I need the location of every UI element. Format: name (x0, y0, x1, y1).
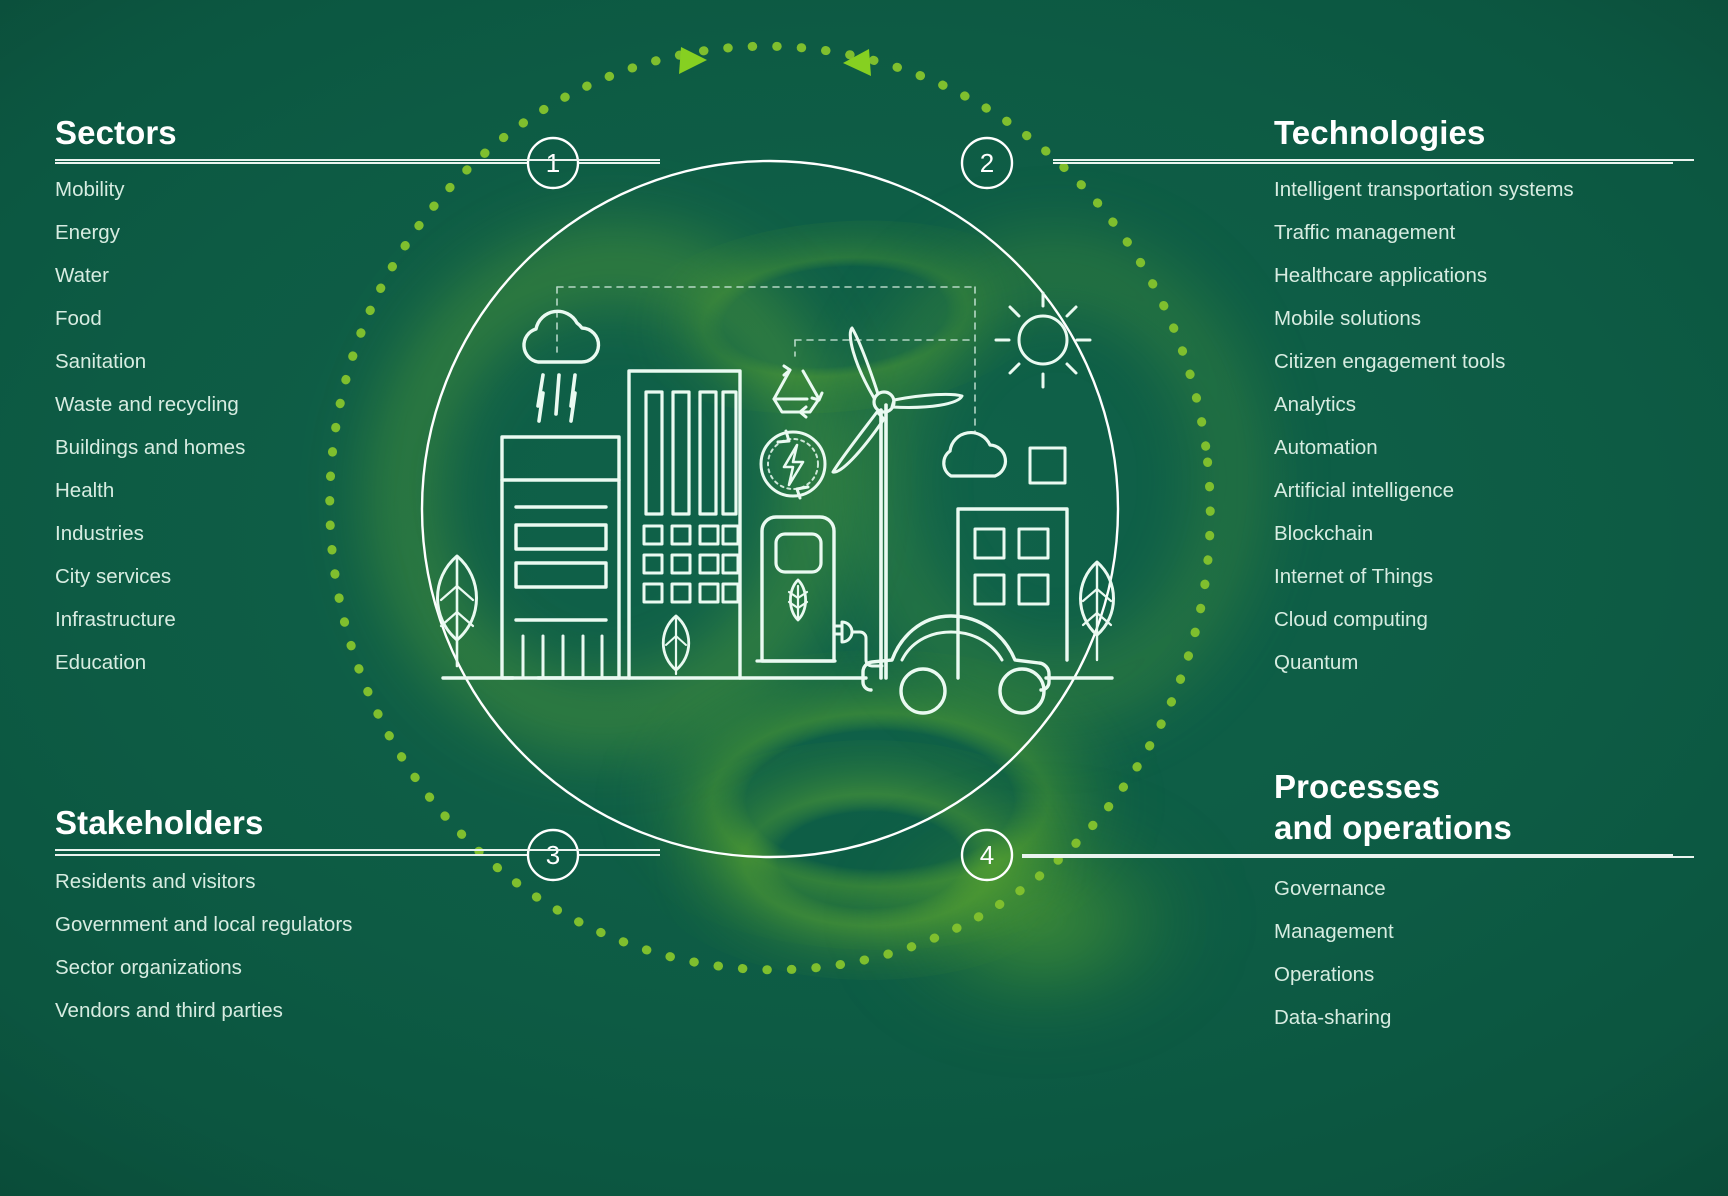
panel-stakeholders: Stakeholders Residents and visitors Gove… (55, 802, 1055, 1024)
list-item[interactable]: Education (55, 650, 1055, 676)
panel-technologies: Technologies Intelligent transportation … (1274, 112, 1694, 676)
list-item[interactable]: Government and local regulators (55, 912, 1055, 938)
list-item[interactable]: Blockchain (1274, 521, 1694, 547)
list-item[interactable]: Industries (55, 521, 1055, 547)
list-stakeholders: Residents and visitors Government and lo… (55, 869, 1055, 1024)
list-item[interactable]: Traffic management (1274, 220, 1694, 246)
list-item[interactable]: Internet of Things (1274, 564, 1694, 590)
list-item[interactable]: Buildings and homes (55, 435, 1055, 461)
list-item[interactable]: Infrastructure (55, 607, 1055, 633)
panel-title-sectors: Sectors (55, 112, 1055, 153)
panel-rule-processes (1022, 856, 1694, 858)
list-item[interactable]: City services (55, 564, 1055, 590)
list-item[interactable]: Data-sharing (1274, 1005, 1694, 1031)
panel-rule-sectors (55, 159, 660, 161)
list-item[interactable]: Artificial intelligence (1274, 478, 1694, 504)
panel-sectors: Sectors Mobility Energy Water Food Sanit… (55, 112, 1055, 676)
list-item[interactable]: Automation (1274, 435, 1694, 461)
list-item[interactable]: Management (1274, 919, 1694, 945)
list-item[interactable]: Waste and recycling (55, 392, 1055, 418)
list-item[interactable]: Intelligent transportation systems (1274, 177, 1694, 203)
list-item[interactable]: Food (55, 306, 1055, 332)
panel-rule-technologies (1053, 159, 1694, 161)
leaf-icon-right (1081, 562, 1114, 660)
panel-title-technologies: Technologies (1274, 112, 1694, 153)
list-item[interactable]: Sanitation (55, 349, 1055, 375)
list-item[interactable]: Mobility (55, 177, 1055, 203)
panel-title-stakeholders: Stakeholders (55, 802, 1055, 843)
list-processes: Governance Management Operations Data-sh… (1274, 876, 1694, 1031)
list-item[interactable]: Mobile solutions (1274, 306, 1694, 332)
list-item[interactable]: Healthcare applications (1274, 263, 1694, 289)
list-item[interactable]: Sector organizations (55, 955, 1055, 981)
panel-rule-stakeholders (55, 849, 660, 851)
list-item[interactable]: Quantum (1274, 650, 1694, 676)
list-item[interactable]: Water (55, 263, 1055, 289)
list-item[interactable]: Vendors and third parties (55, 998, 1055, 1024)
panel-processes-and-operations: Processes and operations Governance Mana… (1274, 766, 1694, 1031)
list-sectors: Mobility Energy Water Food Sanitation Wa… (55, 177, 1055, 676)
list-item[interactable]: Analytics (1274, 392, 1694, 418)
list-item[interactable]: Residents and visitors (55, 869, 1055, 895)
list-item[interactable]: Energy (55, 220, 1055, 246)
list-item[interactable]: Governance (1274, 876, 1694, 902)
list-technologies: Intelligent transportation systems Traff… (1274, 177, 1694, 676)
list-item[interactable]: Health (55, 478, 1055, 504)
list-item[interactable]: Operations (1274, 962, 1694, 988)
list-item[interactable]: Cloud computing (1274, 607, 1694, 633)
list-item[interactable]: Citizen engagement tools (1274, 349, 1694, 375)
panel-title-processes: Processes and operations (1274, 766, 1694, 848)
